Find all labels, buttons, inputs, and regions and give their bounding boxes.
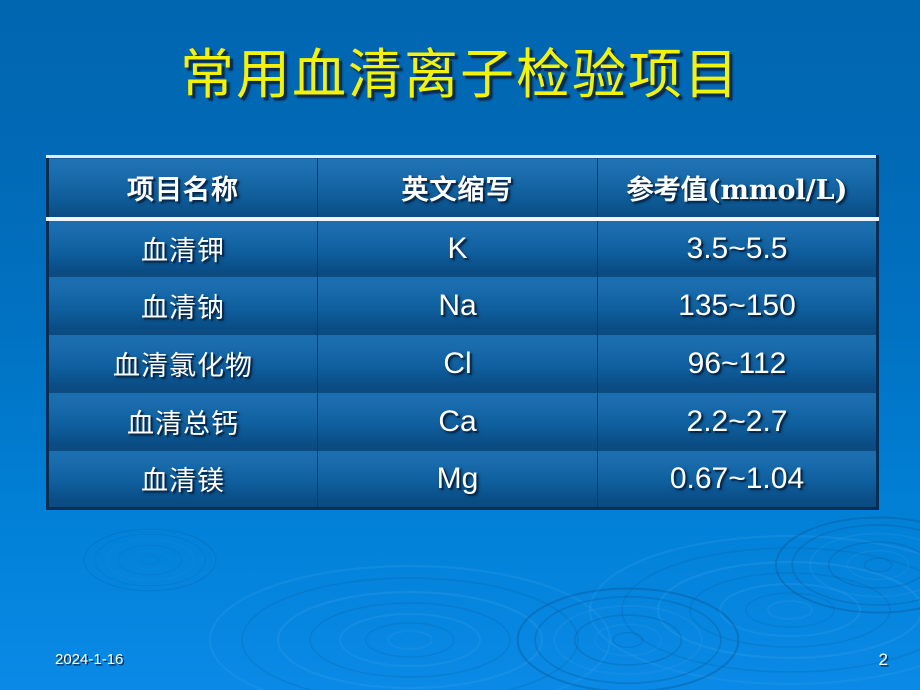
cell-reference-value: 96~112 [598, 335, 878, 393]
cell-text: 血清钠 [141, 293, 225, 324]
table-row: 血清氯化物 Cl 96~112 [48, 335, 878, 393]
cell-abbreviation: Cl [318, 335, 598, 393]
cell-text: 0.67~1.04 [670, 462, 804, 495]
cell-text: Na [438, 289, 476, 322]
cell-abbreviation: K [318, 219, 598, 277]
table-row: 血清钠 Na 135~150 [48, 277, 878, 335]
cell-item-name: 血清钠 [48, 277, 318, 335]
cell-text: K [447, 232, 467, 265]
cell-item-name: 血清氯化物 [48, 335, 318, 393]
cell-text: Cl [443, 347, 471, 380]
header-label: 项目名称 [127, 175, 239, 206]
column-header-reference-value: 参考值(mmol/L) [598, 157, 878, 219]
header-label: 英文缩写 [402, 175, 514, 206]
cell-reference-value: 3.5~5.5 [598, 219, 878, 277]
cell-text: 96~112 [688, 347, 787, 380]
cell-text: Ca [438, 405, 476, 438]
cell-text: Mg [437, 462, 479, 495]
cell-text: 血清钾 [141, 236, 225, 267]
cell-text: 血清总钙 [127, 409, 239, 440]
column-header-item-name: 项目名称 [48, 157, 318, 219]
cell-item-name: 血清镁 [48, 451, 318, 509]
header-label: 参考值(mmol/L) [627, 175, 848, 206]
cell-text: 3.5~5.5 [687, 232, 788, 265]
presentation-slide: 常用血清离子检验项目 项目名称 英文缩写 参考值(mmol/L) 血清钾 [0, 0, 920, 690]
cell-reference-value: 0.67~1.04 [598, 451, 878, 509]
cell-text: 2.2~2.7 [687, 405, 788, 438]
cell-text: 血清镁 [141, 466, 225, 497]
table-header-row: 项目名称 英文缩写 参考值(mmol/L) [48, 157, 878, 219]
cell-abbreviation: Ca [318, 393, 598, 451]
table-row: 血清钾 K 3.5~5.5 [48, 219, 878, 277]
cell-abbreviation: Na [318, 277, 598, 335]
table-row: 血清镁 Mg 0.67~1.04 [48, 451, 878, 509]
slide-number: 2 [879, 650, 888, 670]
cell-text: 血清氯化物 [113, 351, 253, 382]
cell-item-name: 血清钾 [48, 219, 318, 277]
cell-abbreviation: Mg [318, 451, 598, 509]
page-title: 常用血清离子检验项目 [0, 44, 920, 106]
slide-date: 2024-1-16 [55, 651, 123, 668]
cell-reference-value: 135~150 [598, 277, 878, 335]
cell-item-name: 血清总钙 [48, 393, 318, 451]
cell-reference-value: 2.2~2.7 [598, 393, 878, 451]
cell-text: 135~150 [678, 289, 796, 322]
table-row: 血清总钙 Ca 2.2~2.7 [48, 393, 878, 451]
column-header-abbreviation: 英文缩写 [318, 157, 598, 219]
serum-ion-reference-table: 项目名称 英文缩写 参考值(mmol/L) 血清钾 K 3.5~5.5 [46, 155, 879, 510]
